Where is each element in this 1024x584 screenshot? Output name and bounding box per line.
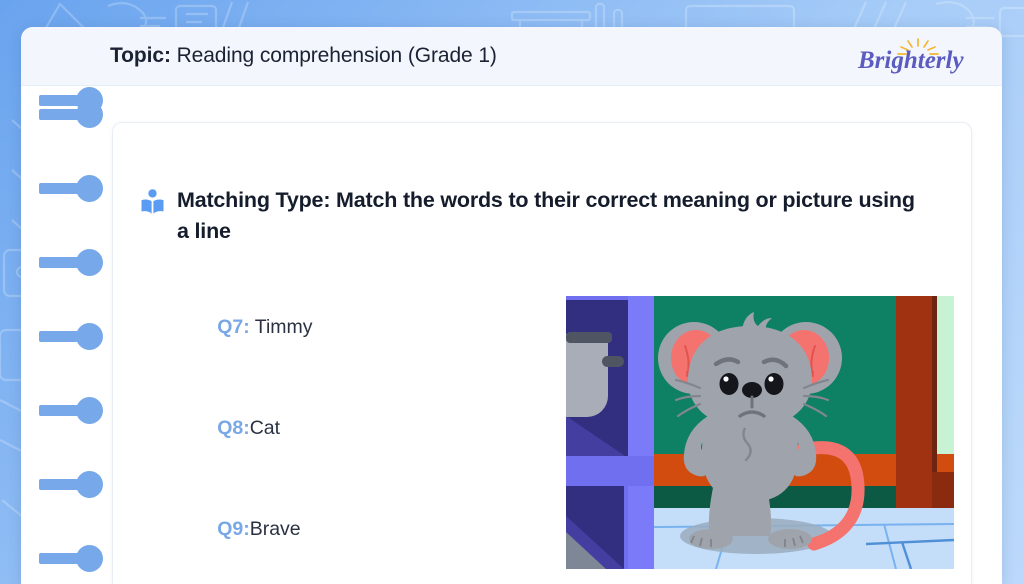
binder-ring-icon xyxy=(39,323,103,349)
question-number: Q8: xyxy=(217,417,250,439)
binder-ring-icon xyxy=(39,471,103,497)
question-instruction-text: Matching Type: Match the words to their … xyxy=(177,185,930,246)
list-item[interactable]: Q8:Cat xyxy=(163,394,503,495)
binder-ring-icon xyxy=(39,175,103,201)
worksheet-sheet: Topic: Reading comprehension (Grade 1) B… xyxy=(21,27,1002,584)
question-word: Timmy xyxy=(250,316,313,338)
binder-ring-icon xyxy=(39,87,103,113)
question-items-list: Q7: Timmy Q8:Cat Q9:Brave xyxy=(163,293,503,584)
list-item[interactable]: Q7: Timmy xyxy=(163,293,503,394)
question-word: Cat xyxy=(250,417,280,439)
topic-line: Topic: Reading comprehension (Grade 1) xyxy=(110,44,497,68)
binder-ring-icon xyxy=(39,249,103,275)
brighterly-logo[interactable]: Brighterly xyxy=(856,37,974,75)
reading-person-icon xyxy=(140,189,165,215)
cartoon-mouse-in-kitchen-illustration[interactable] xyxy=(566,296,954,569)
binder-ring-icon xyxy=(39,545,103,571)
question-number: Q7: xyxy=(217,316,250,338)
question-number: Q9: xyxy=(217,518,250,540)
list-item[interactable]: Q9:Brave xyxy=(163,495,503,584)
question-heading: Matching Type: Match the words to their … xyxy=(140,185,930,246)
screenshot-root: Topic: Reading comprehension (Grade 1) B… xyxy=(0,0,1024,584)
worksheet-header-bar: Topic: Reading comprehension (Grade 1) B… xyxy=(21,27,1002,86)
binder-spiral xyxy=(21,87,113,584)
logo-wordmark: Brighterly xyxy=(857,47,964,74)
question-word: Brave xyxy=(250,518,301,540)
topic-label: Topic: xyxy=(110,44,171,67)
binder-ring-icon xyxy=(39,397,103,423)
topic-value: Reading comprehension (Grade 1) xyxy=(171,44,497,67)
question-card: Matching Type: Match the words to their … xyxy=(112,122,972,584)
binder-ring-icon xyxy=(39,101,103,127)
